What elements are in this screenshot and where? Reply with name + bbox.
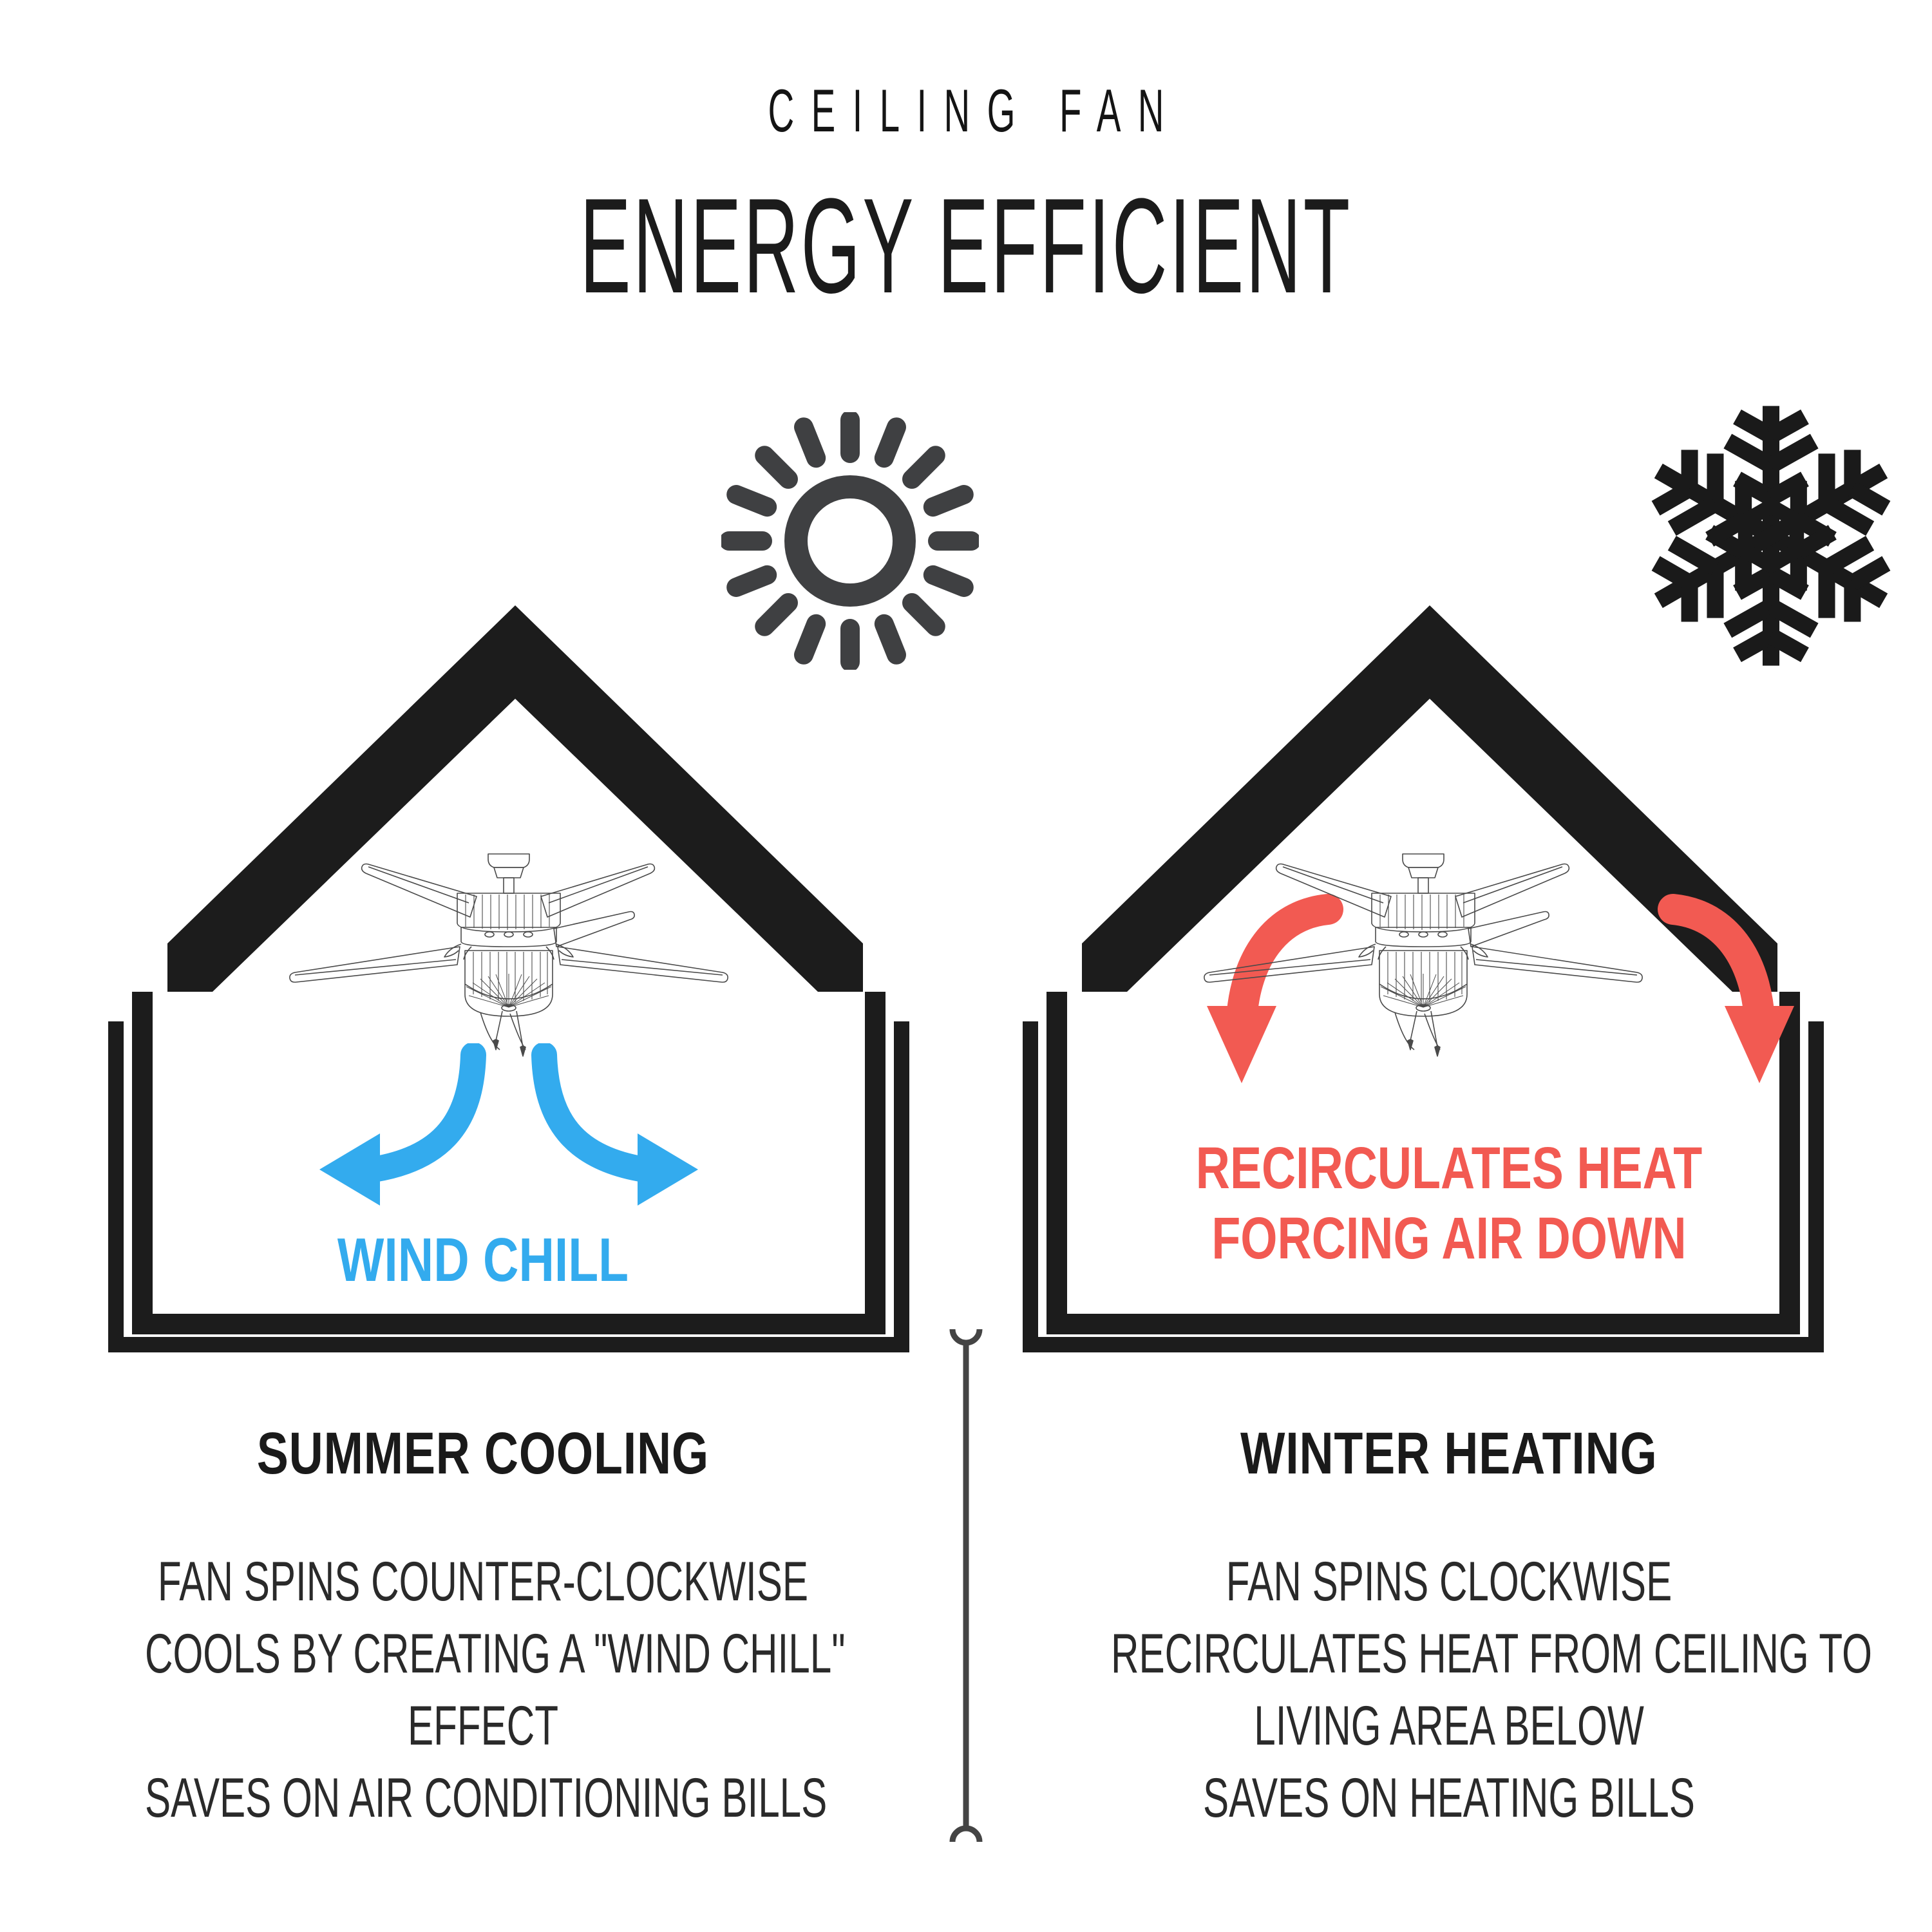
caption-body-summer: FAN SPINS COUNTER-CLOCKWISE COOLS BY CRE… [0, 1546, 966, 1834]
caption-heading-winter: WINTER HEATING [966, 1420, 1932, 1488]
caption-body-winter: FAN SPINS CLOCKWISE RECIRCULATES HEAT FR… [966, 1546, 1932, 1834]
infographic-canvas: CEILING FAN ENERGY EFFICIENT [0, 0, 1932, 1932]
ceiling-fan-illustration [1198, 850, 1649, 1082]
vertical-column-divider [948, 1328, 984, 1843]
inner-label-wind-chill: WIND CHILL [0, 1224, 966, 1296]
panel-summer-cooling: WIND CHILL SUMMER COOLING FAN SPINS COUN… [0, 0, 966, 1932]
airflow-arrows-blue [283, 1043, 734, 1249]
panel-winter-heating: RECIRCULATES HEAT FORCING AIR DOWN WINTE… [966, 0, 1932, 1932]
caption-heading-summer: SUMMER COOLING [0, 1420, 966, 1488]
inner-label-recirculates-heat: RECIRCULATES HEAT FORCING AIR DOWN [966, 1133, 1932, 1273]
